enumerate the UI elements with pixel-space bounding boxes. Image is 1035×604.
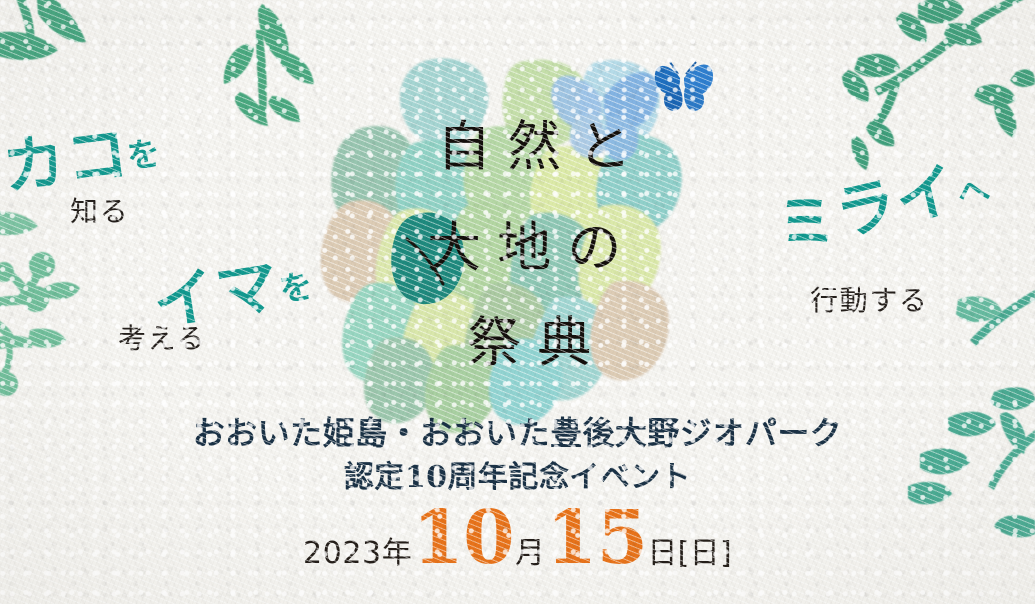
slogan-present-sub: 考える bbox=[118, 317, 206, 357]
slogan-present-particle: を bbox=[277, 266, 317, 310]
date-month-number: 10 bbox=[412, 505, 514, 572]
date-year: 2023年 bbox=[303, 528, 412, 572]
subtitle-line-2: 認定10周年記念イベント bbox=[0, 452, 1035, 496]
date-month-unit: 月 bbox=[515, 528, 545, 572]
slogan-past-particle: を bbox=[125, 133, 164, 176]
slogan-future-sub: 行動する bbox=[810, 279, 929, 319]
page-title-line-1: 自然と bbox=[437, 102, 648, 181]
poster-canvas: カコを 知る イマを 考える ミライへ 行動する 自然と 大地の 祭典 おおいた… bbox=[0, 0, 1035, 604]
date-day-unit: 日 bbox=[647, 528, 677, 572]
date-day-number: 15 bbox=[546, 505, 648, 572]
page-title-line-2: 大地の bbox=[427, 203, 638, 282]
butterfly-icon bbox=[655, 62, 713, 111]
slogan-past-sub: 知る bbox=[70, 190, 129, 230]
event-date: 2023年 10 月 15 日 [日] bbox=[0, 505, 1035, 572]
subtitle-line-1: おおいた姫島・おおいた豊後大野ジオパーク bbox=[0, 408, 1035, 454]
date-weekday: [日] bbox=[678, 528, 732, 572]
page-title-line-3: 祭典 bbox=[467, 298, 607, 377]
